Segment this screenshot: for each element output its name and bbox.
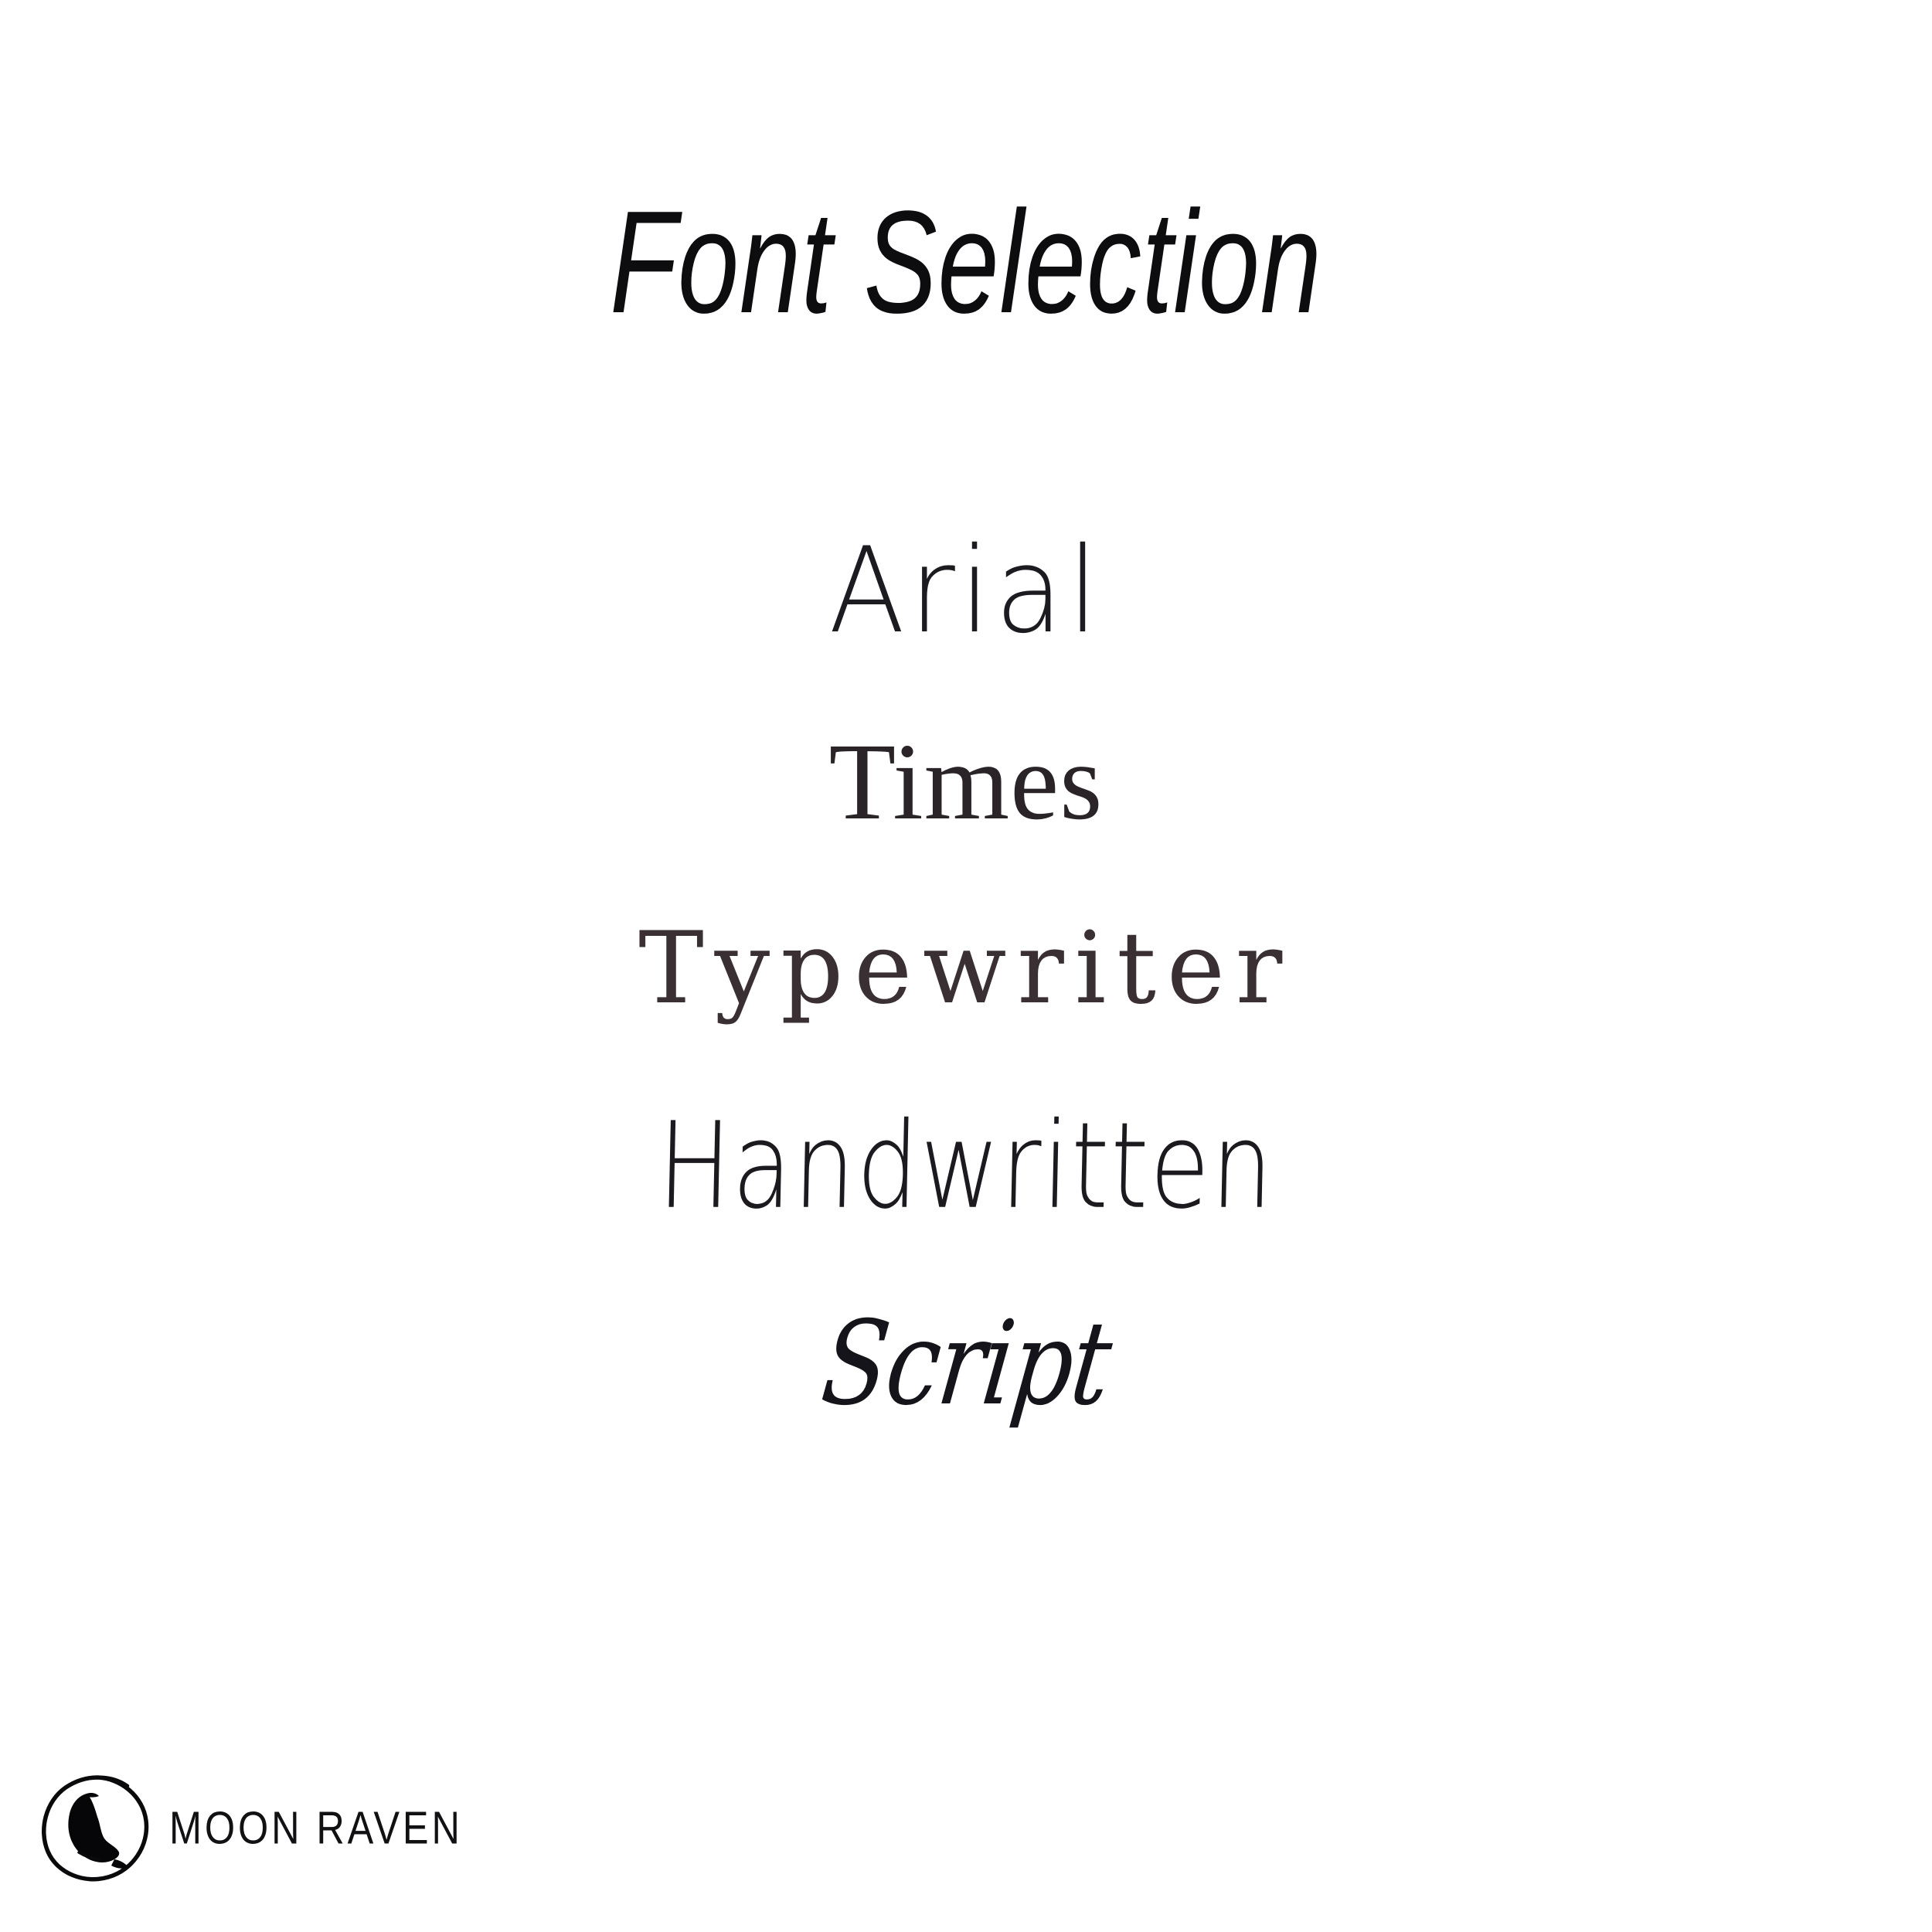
brand-logo[interactable]: MOON RAVEN bbox=[40, 1772, 472, 1884]
page-title: Font Selection bbox=[610, 189, 1322, 335]
raven-in-circle-icon bbox=[40, 1772, 152, 1884]
poster-canvas: Font Selection Arial Times Typewriter Ha… bbox=[0, 0, 1932, 1932]
font-sample-list: Arial Times Typewriter Handwritten Scrip… bbox=[0, 533, 1932, 1499]
font-sample-row-script[interactable]: Script bbox=[0, 1306, 1932, 1499]
font-sample-row-typewriter[interactable]: Typewriter bbox=[0, 920, 1932, 1113]
font-sample-row-arial[interactable]: Arial bbox=[0, 533, 1932, 726]
font-sample-label-typewriter[interactable]: Typewriter bbox=[639, 920, 1294, 1019]
brand-name-label: MOON RAVEN bbox=[169, 1801, 463, 1855]
font-sample-label-times[interactable]: Times bbox=[829, 726, 1104, 836]
title-container: Font Selection bbox=[0, 189, 1932, 327]
font-sample-label-script[interactable]: Script bbox=[817, 1306, 1116, 1422]
font-sample-row-handwritten[interactable]: Handwritten bbox=[0, 1113, 1932, 1306]
font-sample-label-arial[interactable]: Arial bbox=[829, 532, 1104, 651]
font-sample-row-times[interactable]: Times bbox=[0, 726, 1932, 920]
font-sample-label-handwritten[interactable]: Handwritten bbox=[657, 1107, 1276, 1226]
